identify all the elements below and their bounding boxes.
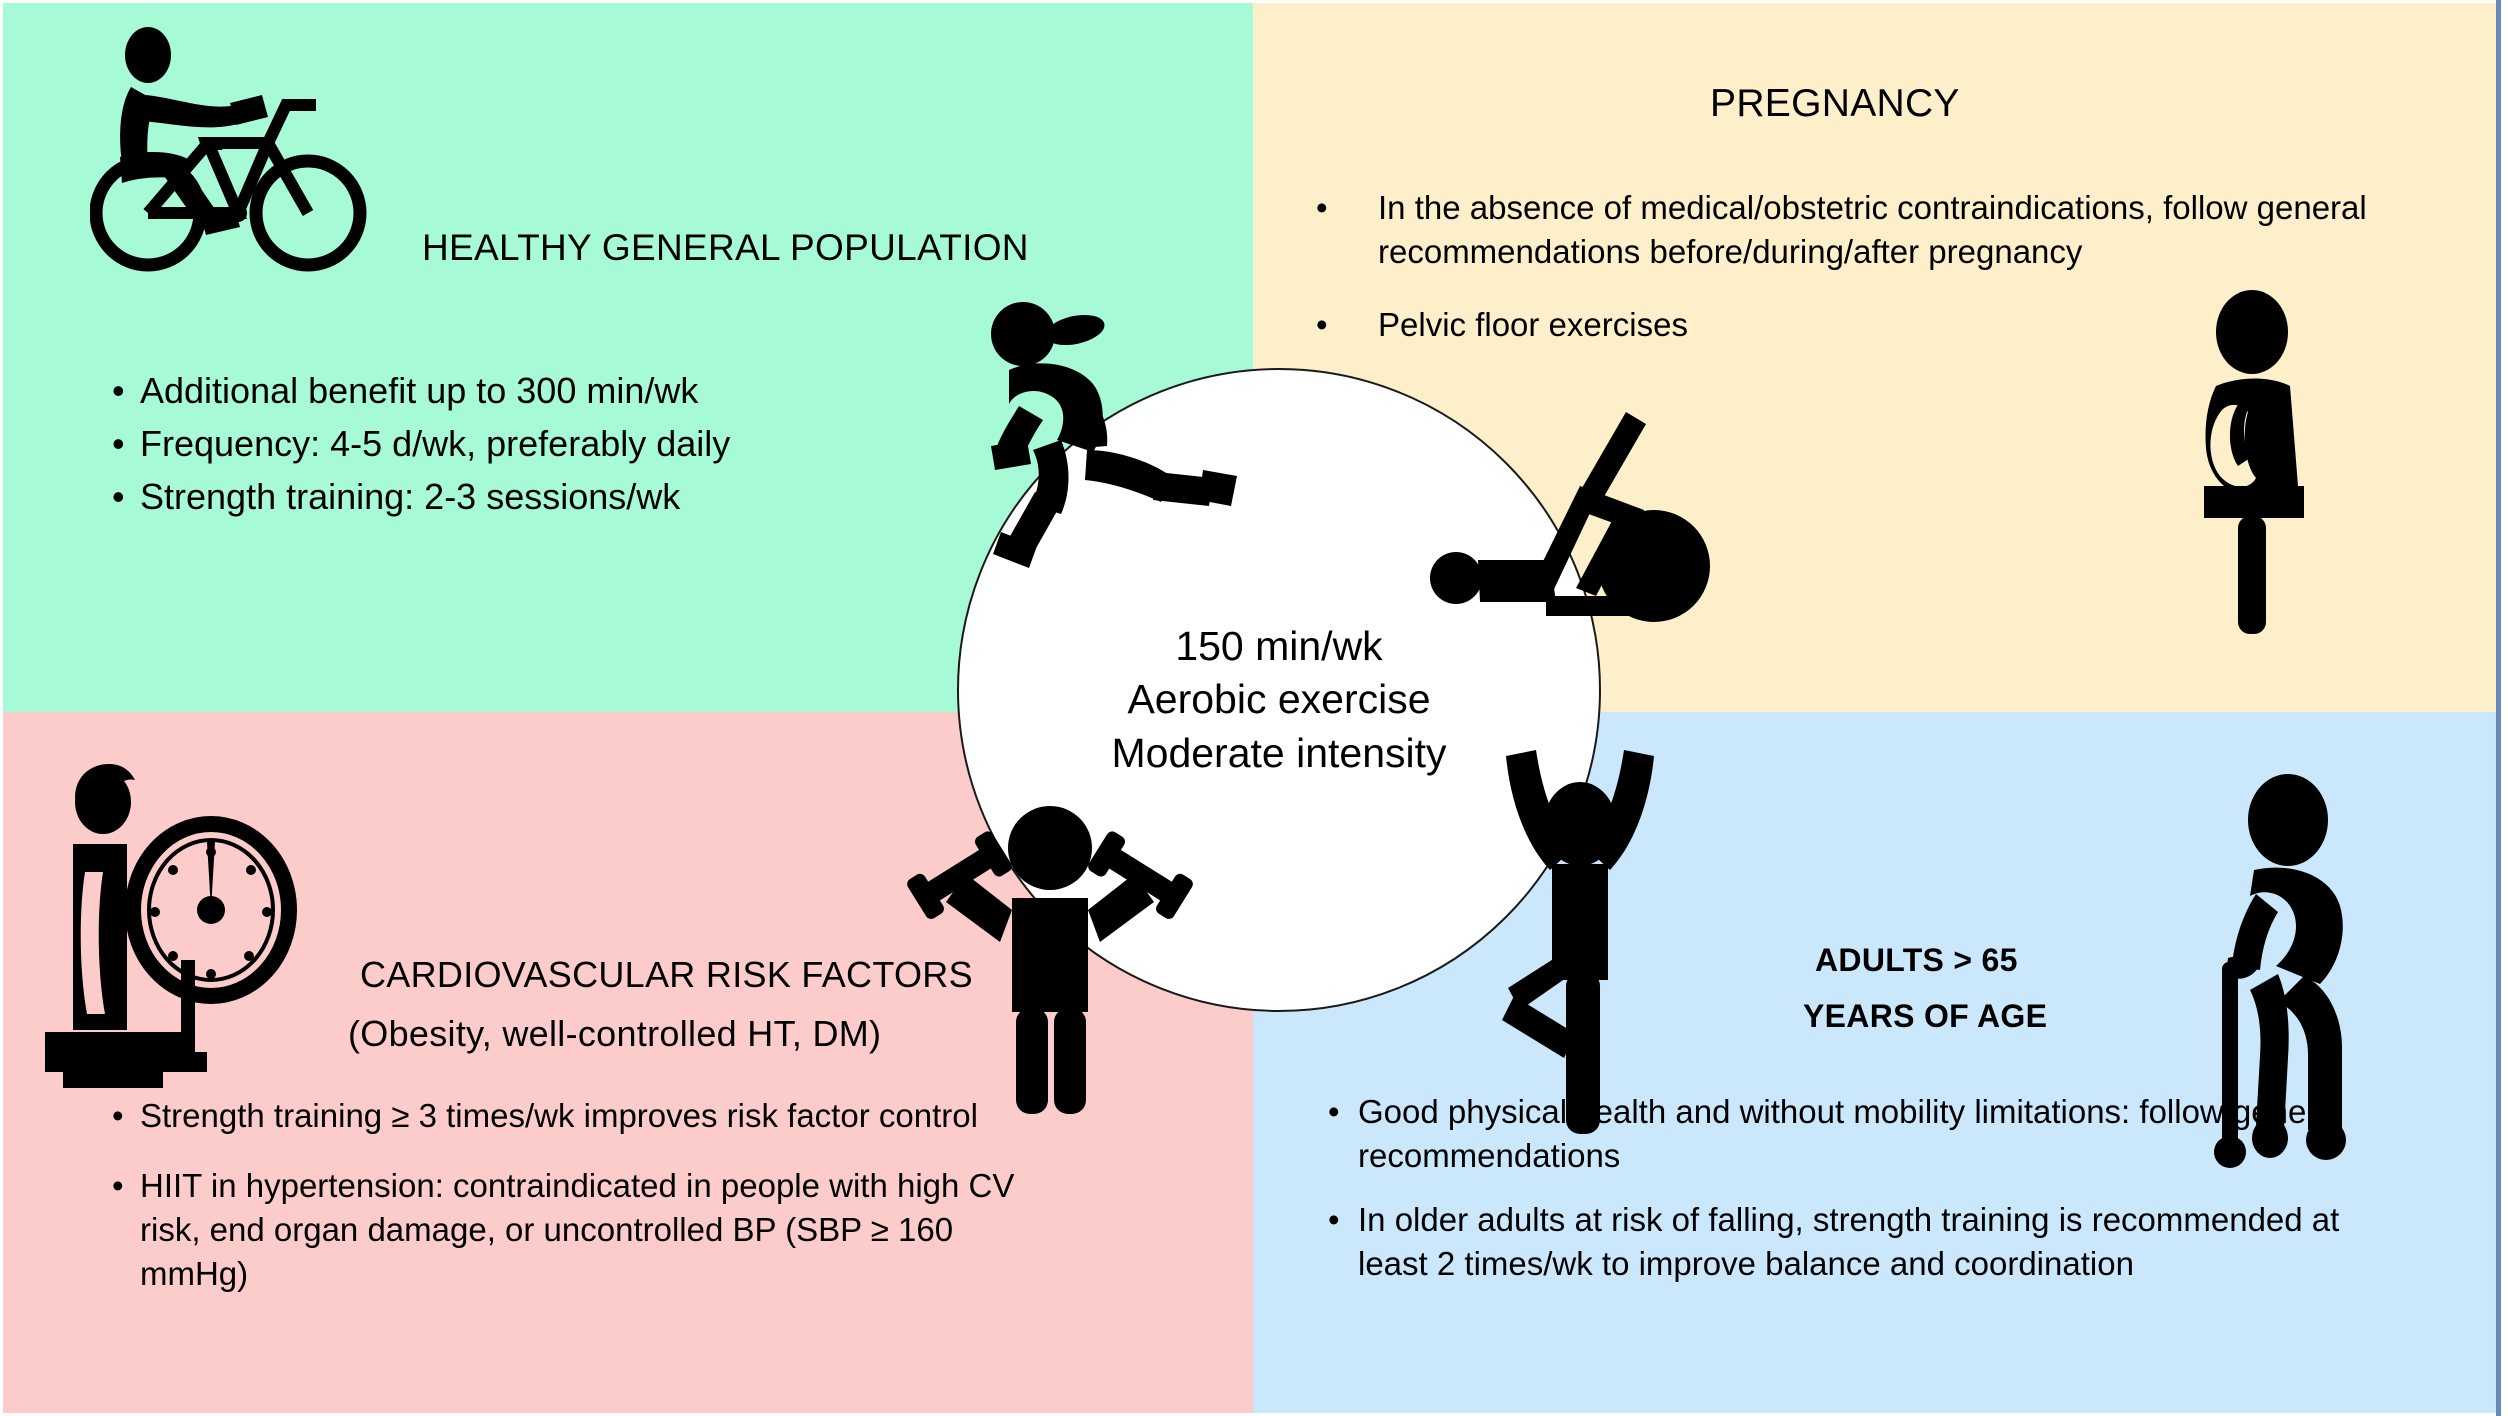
list-item: • Frequency: 4-5 d/wk, preferably daily <box>106 421 966 468</box>
bullet-list-healthy: • Additional benefit up to 300 min/wk • … <box>106 368 966 526</box>
center-line-2: Aerobic exercise <box>957 673 1601 726</box>
weighing-scale-icon <box>35 760 325 1120</box>
center-line-1: 150 min/wk <box>957 620 1601 673</box>
cyclist-icon <box>90 25 380 275</box>
bullet-text: Frequency: 4-5 d/wk, preferably daily <box>140 421 730 468</box>
bullet-list-cvrisk: • Strength training ≥ 3 times/wk improve… <box>110 1094 1070 1322</box>
subheading-cardiovascular-risk-factors: (Obesity, well-controlled HT, DM) <box>348 1013 881 1055</box>
bullet-dot: • <box>112 1164 124 1208</box>
running-woman-icon <box>975 300 1275 600</box>
older-adult-with-cane-icon <box>2170 770 2390 1170</box>
heading-cardiovascular-risk-factors: CARDIOVASCULAR RISK FACTORS <box>360 954 973 996</box>
pelvic-floor-exercise-icon <box>1430 390 1750 630</box>
center-line-3: Moderate intensity <box>957 727 1601 780</box>
bullet-dot: • <box>1328 1198 1340 1242</box>
heading-adults-over-65: ADULTS > 65 <box>1815 942 2018 979</box>
page-right-edge <box>2496 0 2501 1416</box>
bullet-dot: • <box>1316 186 1328 230</box>
page-top-edge <box>0 0 2508 3</box>
bullet-dot: • <box>1316 303 1328 347</box>
bullet-text: Additional benefit up to 300 min/wk <box>140 368 698 415</box>
bullet-text: In the absence of medical/obstetric cont… <box>1378 186 2376 273</box>
infographic-canvas: HEALTHY GENERAL POPULATION • Additional … <box>0 0 2508 1416</box>
bullet-dot: • <box>112 421 125 468</box>
bullet-dot: • <box>112 368 125 415</box>
list-item: • In older adults at risk of falling, st… <box>1326 1198 2416 1286</box>
bullet-text: Pelvic floor exercises <box>1378 303 1688 347</box>
central-recommendation-text: 150 min/wk Aerobic exercise Moderate int… <box>957 620 1601 780</box>
bullet-text: In older adults at risk of falling, stre… <box>1358 1198 2416 1286</box>
bullet-dot: • <box>1328 1090 1340 1134</box>
tree-pose-yoga-icon <box>1480 720 1680 1140</box>
subheading-adults-over-65: YEARS OF AGE <box>1803 998 2047 1035</box>
dumbbell-lifter-icon <box>900 790 1200 1120</box>
list-item: • HIIT in hypertension: contraindicated … <box>110 1164 1070 1296</box>
bullet-dot: • <box>112 474 125 521</box>
list-item: • In the absence of medical/obstetric co… <box>1316 186 2376 273</box>
list-item: • Strength training: 2-3 sessions/wk <box>106 474 966 521</box>
bullet-text: Strength training: 2-3 sessions/wk <box>140 474 680 521</box>
bullet-text: HIIT in hypertension: contraindicated in… <box>140 1164 1070 1296</box>
list-item: • Additional benefit up to 300 min/wk <box>106 368 966 415</box>
heading-healthy-general-population: HEALTHY GENERAL POPULATION <box>422 227 1029 269</box>
heading-pregnancy: PREGNANCY <box>1710 82 1960 126</box>
pregnant-woman-icon <box>2150 290 2350 640</box>
